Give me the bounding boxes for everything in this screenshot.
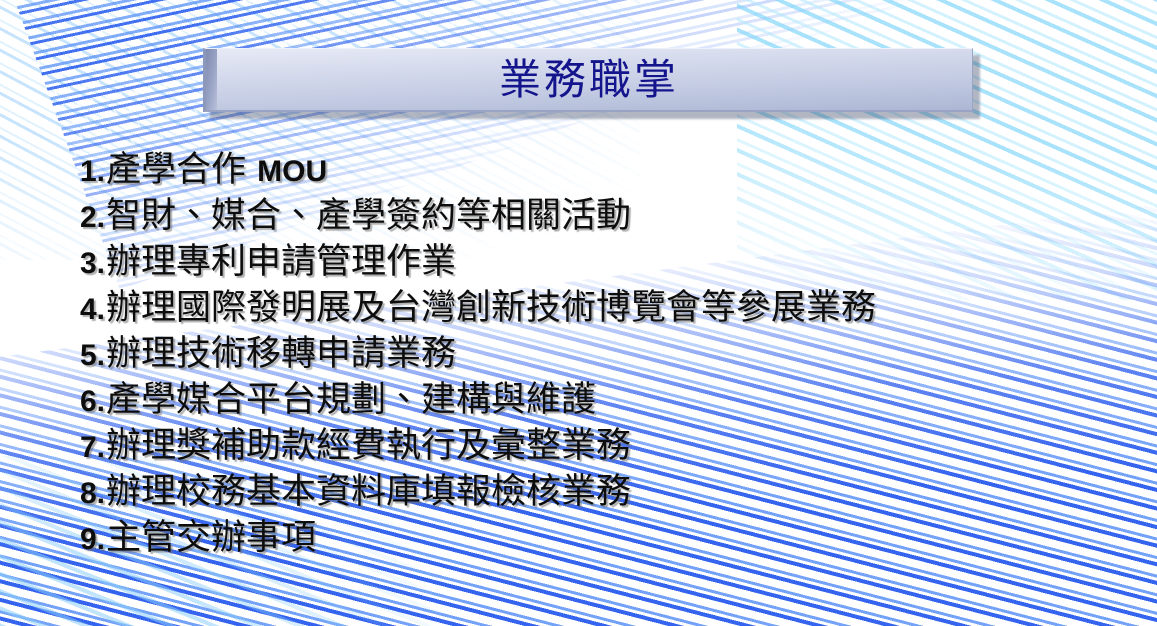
list-item: 2. 智財、媒合、產學簽約等相關活動: [80, 187, 1130, 233]
list-item-number: 7.: [80, 431, 105, 465]
list-item: 8. 辦理校務基本資料庫填報檢核業務: [80, 463, 1130, 509]
list-item-label: 產學媒合平台規劃、建構與維護: [106, 371, 596, 422]
list-item-number: 2.: [80, 201, 105, 235]
list-item-number: 4.: [80, 293, 105, 327]
list-item: 4. 辦理國際發明展及台灣創新技術博覽會等參展業務: [80, 279, 1130, 325]
slide: 業務職掌 1. 產學合作 MOU 2. 智財、媒合、產學簽約等相關活動 3. 辦…: [0, 0, 1157, 626]
title-plaque-box: 業務職掌: [203, 48, 973, 112]
list-item: 1. 產學合作 MOU: [80, 141, 1130, 187]
list-item: 7. 辦理獎補助款經費執行及彙整業務: [80, 417, 1130, 463]
list-item: 3. 辦理專利申請管理作業: [80, 233, 1130, 279]
list-item-label: 主管交辦事項: [106, 509, 316, 560]
list-item: 9. 主管交辦事項: [80, 509, 1130, 555]
list-item-number: 6.: [80, 385, 105, 419]
list-item-label: 產學合作 MOU: [106, 141, 327, 192]
list-item-number: 9.: [80, 523, 105, 557]
list-item-label: 辦理國際發明展及台灣創新技術博覽會等參展業務: [106, 279, 876, 330]
page-title: 業務職掌: [499, 59, 679, 101]
list-item-label: 辦理技術移轉申請業務: [106, 325, 456, 376]
list-item-number: 5.: [80, 339, 105, 373]
list-item-number: 3.: [80, 247, 105, 281]
title-plaque: 業務職掌: [203, 48, 973, 112]
list-item-label: 辦理校務基本資料庫填報檢核業務: [106, 463, 631, 514]
list-item: 6. 產學媒合平台規劃、建構與維護: [80, 371, 1130, 417]
list-item-number: 1.: [80, 155, 105, 189]
list-item-label: 辦理專利申請管理作業: [106, 233, 456, 284]
list-item-label: 智財、媒合、產學簽約等相關活動: [106, 187, 631, 238]
list-item-label: 辦理獎補助款經費執行及彙整業務: [106, 417, 631, 468]
list-item-number: 8.: [80, 477, 105, 511]
duties-list: 1. 產學合作 MOU 2. 智財、媒合、產學簽約等相關活動 3. 辦理專利申請…: [80, 141, 1130, 555]
list-item: 5. 辦理技術移轉申請業務: [80, 325, 1130, 371]
